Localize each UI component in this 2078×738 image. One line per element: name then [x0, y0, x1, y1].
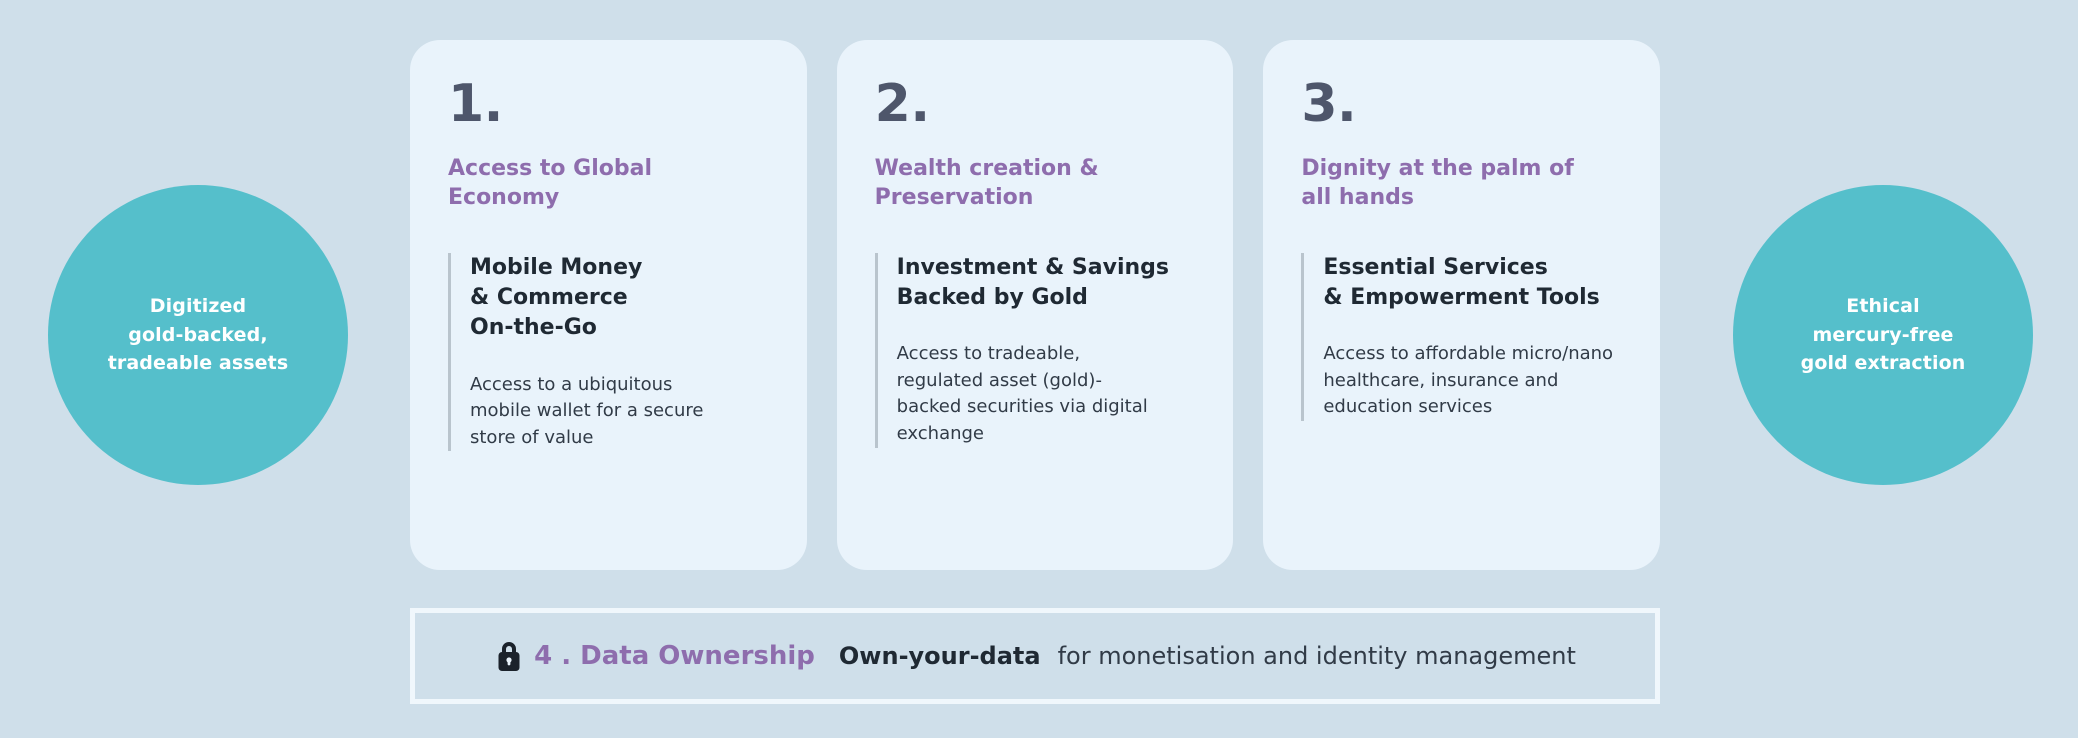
data-ownership-content: 4 . Data Ownership Own-your-data for mon…	[494, 638, 1576, 674]
card-body-heading-1: Mobile Money & Commerce On-the-Go	[470, 253, 769, 344]
card-number-1: 1.	[448, 78, 769, 130]
digitized-gold-circle-label: Digitized gold-backed, tradeable assets	[90, 292, 307, 379]
card-body-text-3: Access to affordable micro/nano healthca…	[1323, 341, 1622, 421]
card-number-3: 3.	[1301, 78, 1622, 130]
lock-icon	[494, 638, 524, 674]
ethical-extraction-circle-label: Ethical mercury-free gold extraction	[1783, 292, 1984, 379]
ethical-extraction-circle: Ethical mercury-free gold extraction	[1733, 185, 2033, 485]
data-ownership-bar: 4 . Data Ownership Own-your-data for mon…	[410, 608, 1660, 704]
card-body-1: Mobile Money & Commerce On-the-Go Access…	[448, 253, 769, 452]
card-subtitle-2: Wealth creation & Preservation	[875, 154, 1196, 213]
card-body-3: Essential Services & Empowerment Tools A…	[1301, 253, 1622, 422]
pillar-card-1: 1. Access to Global Economy Mobile Money…	[410, 40, 807, 570]
data-ownership-rest-text: for monetisation and identity management	[1058, 642, 1576, 670]
card-body-text-2: Access to tradeable, regulated asset (go…	[897, 341, 1196, 448]
card-body-text-1: Access to a ubiquitous mobile wallet for…	[470, 372, 769, 452]
card-subtitle-1: Access to Global Economy	[448, 154, 769, 213]
card-subtitle-3: Dignity at the palm of all hands	[1301, 154, 1622, 213]
pillar-cards-row: 1. Access to Global Economy Mobile Money…	[410, 40, 1660, 570]
pillar-card-2: 2. Wealth creation & Preservation Invest…	[837, 40, 1234, 570]
card-number-2: 2.	[875, 78, 1196, 130]
pillar-card-3: 3. Dignity at the palm of all hands Esse…	[1263, 40, 1660, 570]
data-ownership-number-label: 4 . Data Ownership	[534, 641, 815, 671]
card-body-heading-3: Essential Services & Empowerment Tools	[1323, 253, 1622, 314]
data-ownership-strong-text: Own-your-data	[839, 642, 1041, 670]
digitized-gold-circle: Digitized gold-backed, tradeable assets	[48, 185, 348, 485]
card-body-heading-2: Investment & Savings Backed by Gold	[897, 253, 1196, 314]
card-body-2: Investment & Savings Backed by Gold Acce…	[875, 253, 1196, 448]
